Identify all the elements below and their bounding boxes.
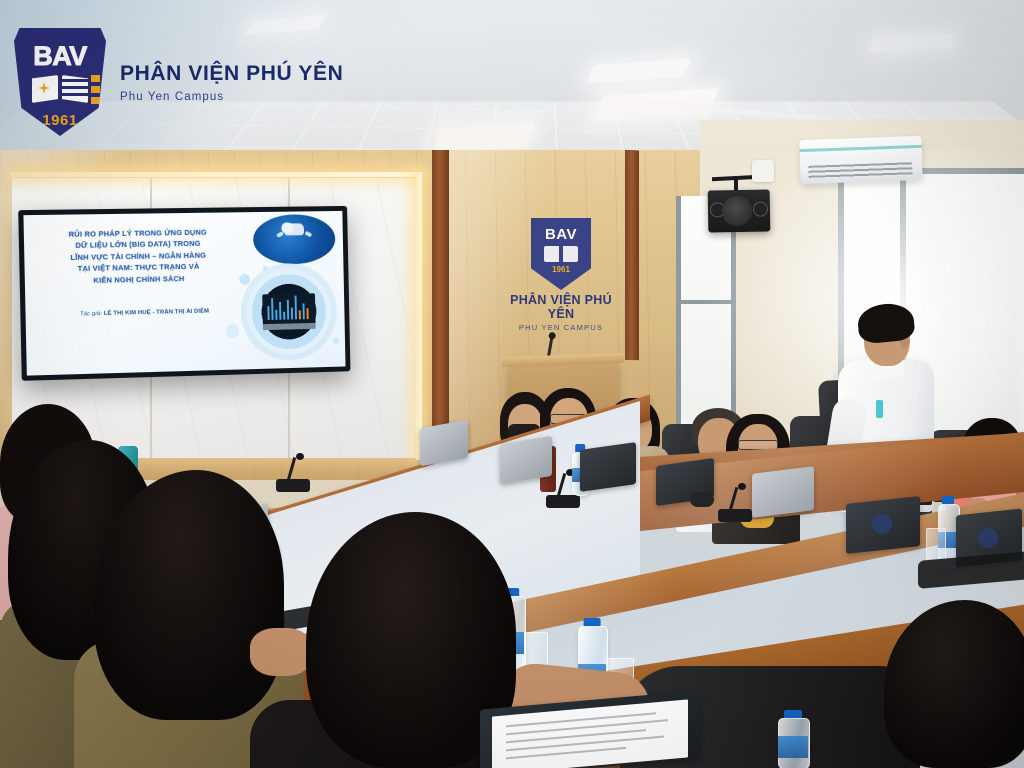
desk-microphone	[276, 452, 310, 492]
conference-room-photo: BAV 1961 PHÂN VIỆN PHÚ YÊN PHU YEN CAMPU…	[0, 0, 1024, 768]
wall-logo-line1: PHÂN VIỆN PHÚ YÊN	[496, 293, 626, 321]
mini-bar	[303, 303, 305, 319]
bottle-label	[778, 736, 808, 758]
laptop-sticker	[978, 528, 998, 548]
wall-shield-icon: BAV 1961	[531, 218, 591, 290]
mini-bar	[307, 308, 309, 319]
watermark-logo: BAV 1961 PHÂN VIỆN PHÚ YÊN Phu Yen Campu…	[14, 28, 343, 136]
robot-icon	[281, 222, 307, 248]
speaker-tweeter	[753, 201, 768, 216]
bav-shield-icon: BAV 1961	[14, 28, 106, 136]
laptop-sticker	[872, 514, 892, 534]
wall-shield-letters: BAV	[531, 218, 591, 243]
mini-laptop-icon	[262, 293, 315, 330]
mini-bar	[291, 308, 293, 320]
wall-control-box	[752, 160, 774, 182]
led-accent-strip	[10, 172, 422, 177]
laptop-lid	[500, 436, 552, 484]
mic-tip	[738, 483, 746, 490]
shield-year: 1961	[42, 112, 77, 129]
mic-stem	[729, 487, 738, 511]
ac-accent-band	[800, 145, 922, 152]
wall-speaker	[708, 189, 771, 232]
mic-stem	[557, 473, 566, 497]
window-mullion	[676, 196, 681, 426]
window-mullion	[676, 300, 736, 304]
decorative-bubble	[332, 337, 339, 344]
wall-mounted-bav-logo: BAV 1961 PHÂN VIỆN PHÚ YÊN PHU YEN CAMPU…	[496, 218, 626, 332]
robot-circle-image	[253, 214, 336, 265]
computer-mouse	[690, 492, 714, 507]
laptop-chart-circle-image	[246, 268, 332, 355]
air-conditioner-unit	[799, 136, 922, 184]
mini-bar	[299, 310, 301, 319]
robot-head	[281, 222, 293, 233]
lanyard-badge	[876, 400, 883, 418]
wood-trim	[625, 150, 639, 360]
slide-author-line: Tác giả: LÊ THỊ KIM HUỆ - TRẦN THỊ ÁI DI…	[36, 308, 252, 319]
water-bottle	[778, 718, 808, 768]
wall-logo-line2: PHU YEN CAMPUS	[496, 323, 626, 332]
robot-arm	[276, 231, 284, 238]
shield-letters: BAV	[33, 43, 87, 70]
slide-title: RỦI RO PHÁP LÝ TRONG ỨNG DỤNG DỮ LIỆU LỚ…	[34, 226, 241, 287]
mini-bar	[287, 300, 289, 320]
mic-tip	[296, 453, 304, 460]
mic-base	[718, 509, 752, 522]
mic-base	[276, 479, 310, 492]
decorative-bubble	[263, 265, 268, 270]
mini-bar	[267, 306, 269, 320]
wall-book-icon	[544, 246, 578, 262]
gold-square	[91, 86, 100, 93]
wall-shield-year: 1961	[531, 265, 591, 274]
mini-bar	[295, 296, 297, 320]
ac-vent	[808, 162, 912, 179]
laptop-lid	[580, 442, 636, 492]
mic-base	[546, 495, 580, 508]
mini-bar	[283, 312, 285, 320]
desk-microphone	[718, 482, 752, 522]
mini-bar	[271, 298, 273, 320]
slide-author-names: LÊ THỊ KIM HUỆ - TRẦN THỊ ÁI DIỄM	[104, 309, 209, 317]
brand-text-block: PHÂN VIỆN PHÚ YÊN Phu Yen Campus	[120, 62, 343, 103]
brand-subtitle: Phu Yen Campus	[120, 91, 343, 103]
gold-square	[91, 75, 100, 82]
mini-bar	[275, 310, 277, 320]
laptop-lid	[752, 466, 814, 518]
brand-title: PHÂN VIỆN PHÚ YÊN	[120, 62, 343, 86]
led-accent-strip	[416, 172, 422, 460]
slide-surface: RỦI RO PHÁP LÝ TRONG ỨNG DỤNG DỮ LIỆU LỚ…	[23, 211, 345, 376]
wood-trim	[432, 150, 449, 450]
document-text-line	[506, 719, 668, 735]
gold-square	[91, 97, 100, 104]
document-text-line	[506, 712, 656, 727]
mic-stem	[287, 457, 296, 481]
decorative-bubble	[239, 274, 250, 285]
robot-arm	[304, 231, 312, 238]
mini-bar	[279, 302, 281, 320]
mini-laptop-base	[262, 323, 315, 330]
speaker-cone	[722, 196, 753, 227]
book-page-right	[62, 75, 88, 103]
presentation-display: RỦI RO PHÁP LÝ TRONG ỨNG DỤNG DỮ LIỆU LỚ…	[18, 206, 350, 381]
typing-hand	[250, 628, 312, 676]
slide-author-prefix: Tác giả:	[80, 311, 104, 318]
decorative-bubble	[225, 324, 239, 338]
book-spine	[59, 75, 62, 103]
open-book-icon	[32, 75, 88, 105]
document-text-line	[506, 736, 664, 751]
